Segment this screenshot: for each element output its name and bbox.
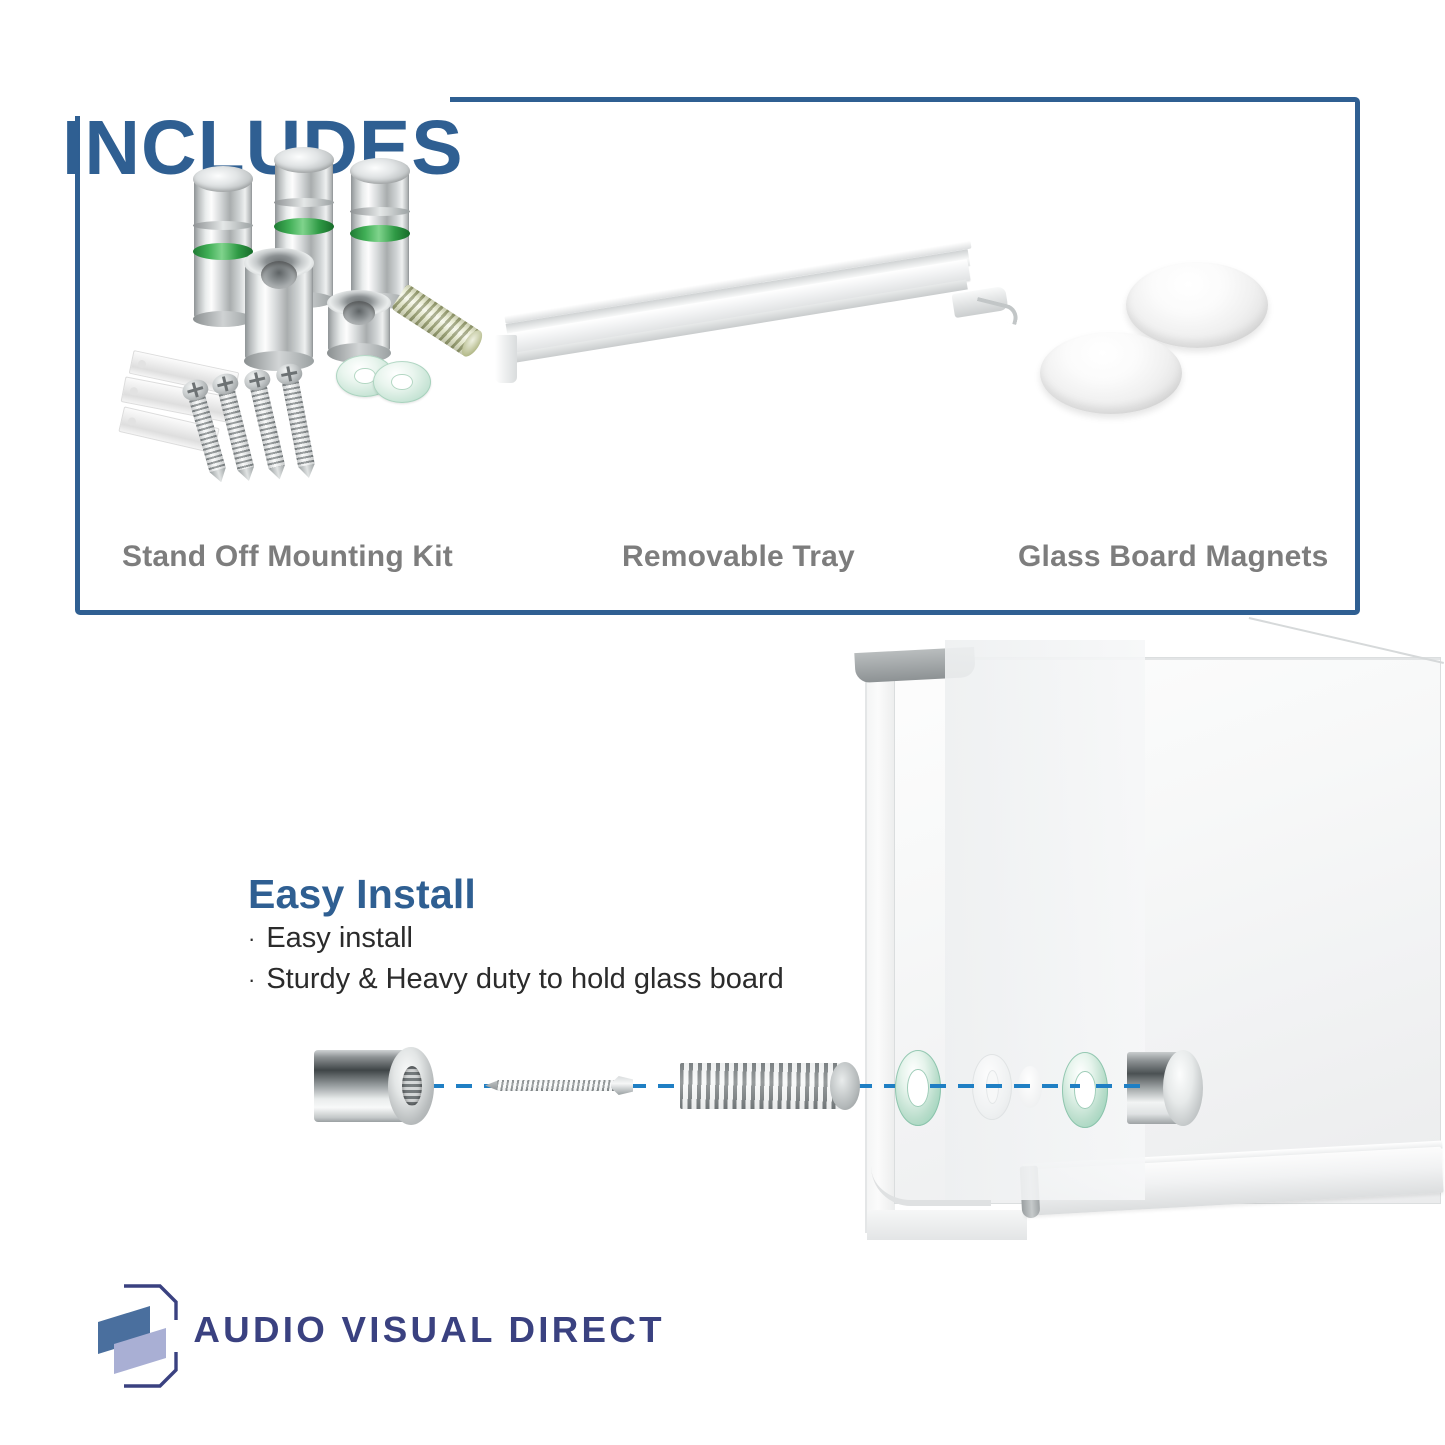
barrel-nut [245,263,313,361]
glass-washer [373,361,431,403]
audio-visual-direct-mark-icon [90,1282,194,1390]
glass-board-magnet [1040,332,1182,414]
glass-washer-back-part [1062,1052,1108,1128]
glass-board-panel-section [945,640,1145,1200]
glass-board-magnets-icon [1126,262,1268,348]
alignment-dashed-line [930,1084,1080,1088]
threaded-bolt [391,283,481,356]
standoff-post [194,179,252,319]
item-label-standoff-kit: Stand Off Mounting Kit [122,540,453,574]
bullet-dot-icon: · [248,918,255,959]
removable-tray-icon [495,280,1025,420]
glass-washer-front-part [895,1050,941,1126]
mounting-screw [280,371,315,468]
list-item: · Sturdy & Heavy duty to hold glass boar… [248,959,808,1000]
easy-install-block: Easy Install · Easy install · Sturdy & H… [248,870,808,1000]
standoff-cap-part [1127,1052,1203,1124]
brand-logo-text: AUDIO VISUAL DIRECT [193,1309,664,1351]
list-item: · Easy install [248,918,808,959]
glass-board-bottom-edge [867,1210,1027,1240]
easy-install-heading: Easy Install [248,870,808,918]
wall-screw-part [485,1076,635,1094]
item-label-glass-magnets: Glass Board Magnets [1018,540,1329,574]
threaded-stud-part [680,1063,865,1109]
standoff-mounting-kit-icon [120,155,500,525]
assembly-exploded-diagram [300,1030,1130,1140]
standoff-barrel-part [314,1050,434,1122]
glass-board-edge-line [865,658,867,1233]
alignment-dashed-line [1096,1084,1140,1088]
mounting-screw [248,377,285,470]
glass-board-product-image [855,650,1440,1245]
item-label-removable-tray: Removable Tray [622,540,855,574]
barrel-nut [328,303,390,353]
brand-logo: AUDIO VISUAL DIRECT [90,1282,570,1392]
bullet-text: Sturdy & Heavy duty to hold glass board [266,959,783,1000]
includes-section: INCLUDES [0,0,1445,640]
bullet-dot-icon: · [248,959,255,1000]
bullet-text: Easy install [266,918,413,959]
standoff-post [351,171,409,301]
